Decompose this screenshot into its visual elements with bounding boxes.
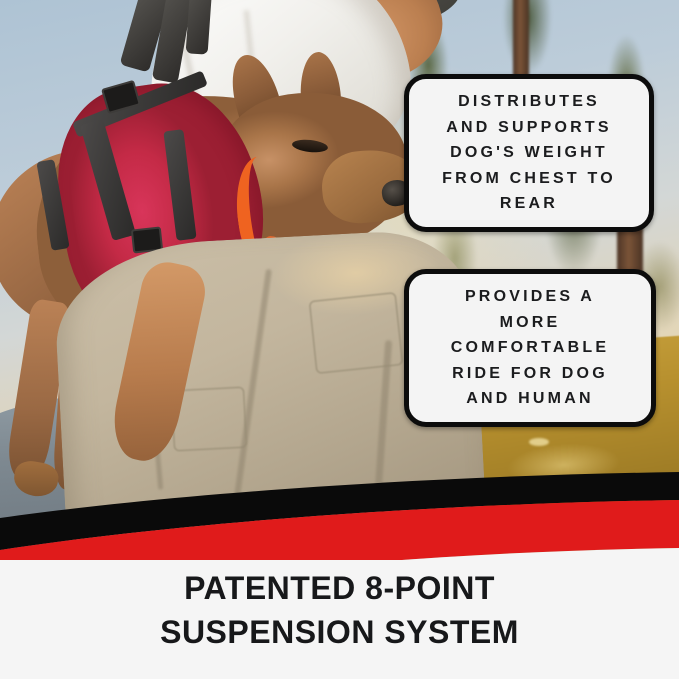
callout-1-line-5: REAR <box>442 191 616 217</box>
callout-2-line-2: MORE <box>451 310 609 336</box>
callout-2-line-5: AND HUMAN <box>451 386 609 412</box>
grass-highlight <box>562 492 584 501</box>
callout-1-line-3: DOG'S WEIGHT <box>442 140 616 166</box>
callout-1-line-1: DISTRIBUTES <box>442 89 616 115</box>
headline-line-1: PATENTED 8-POINT <box>184 566 495 610</box>
callout-2-line-1: PROVIDES A <box>451 284 609 310</box>
feature-callout-weight-distribution-text: DISTRIBUTES AND SUPPORTS DOG'S WEIGHT FR… <box>432 89 626 217</box>
product-feature-poster: PATENTED 8-POINT SUSPENSION SYSTEM DISTR… <box>0 0 679 679</box>
feature-callout-comfort: PROVIDES A MORE COMFORTABLE RIDE FOR DOG… <box>404 269 656 427</box>
pants-pocket <box>308 292 403 375</box>
feature-callout-weight-distribution: DISTRIBUTES AND SUPPORTS DOG'S WEIGHT FR… <box>404 74 654 232</box>
headline-banner: PATENTED 8-POINT SUSPENSION SYSTEM <box>0 560 679 679</box>
grass-highlight <box>529 438 549 446</box>
headline-line-2: SUSPENSION SYSTEM <box>160 610 519 654</box>
callout-1-line-4: FROM CHEST TO <box>442 166 616 192</box>
callout-1-line-2: AND SUPPORTS <box>442 115 616 141</box>
callout-2-line-3: COMFORTABLE <box>451 335 609 361</box>
feature-callout-comfort-text: PROVIDES A MORE COMFORTABLE RIDE FOR DOG… <box>441 284 619 412</box>
callout-2-line-4: RIDE FOR DOG <box>451 361 609 387</box>
